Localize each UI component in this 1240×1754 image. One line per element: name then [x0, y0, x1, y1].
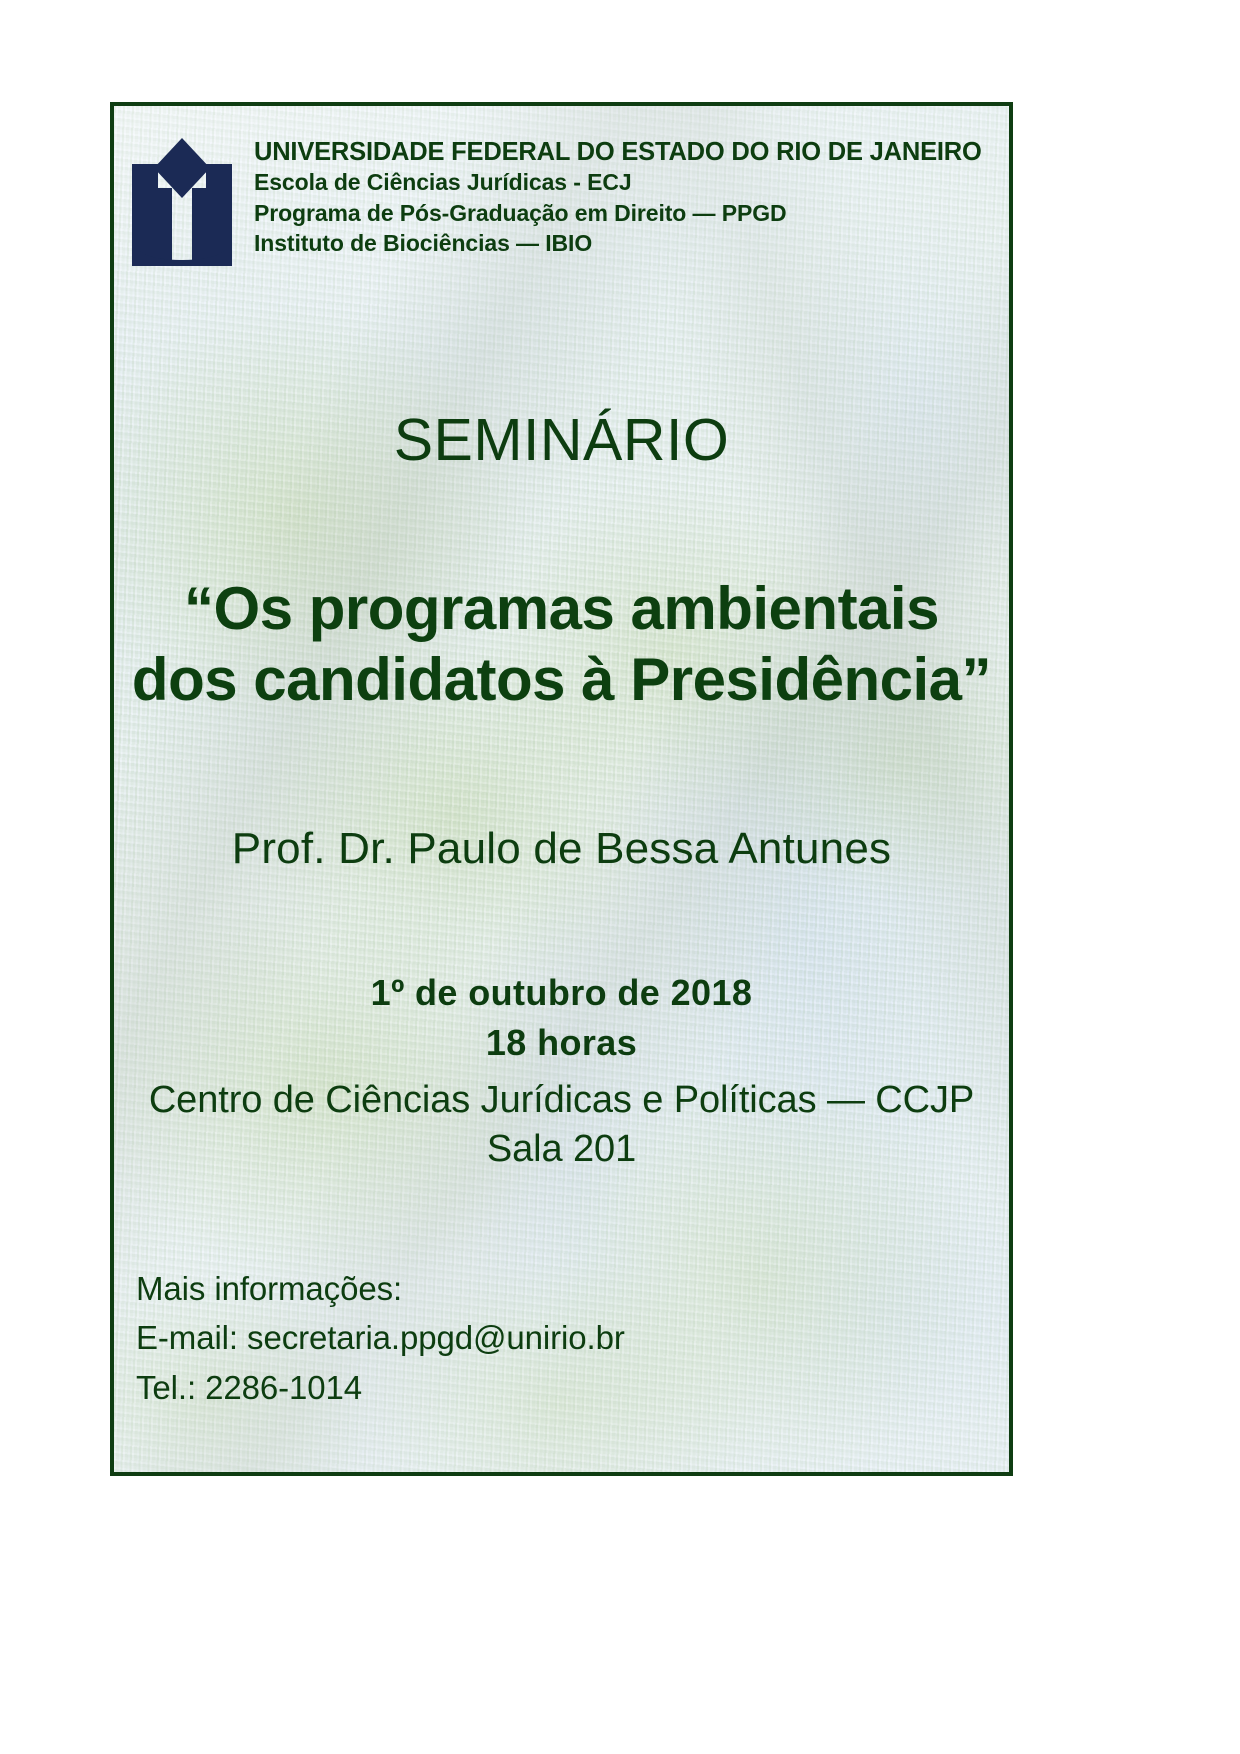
event-venue: Centro de Ciências Jurídicas e Políticas…	[114, 1076, 1009, 1125]
poster-frame: UNIVERSIDADE FEDERAL DO ESTADO DO RIO DE…	[110, 102, 1013, 1476]
contact-block: Mais informações: E-mail: secretaria.ppg…	[136, 1264, 625, 1413]
event-room: Sala 201	[114, 1125, 1009, 1174]
school-name-ecj: Escola de Ciências Jurídicas - ECJ	[254, 167, 982, 198]
poster-title: “Os programas ambientais dos candidatos …	[114, 574, 1009, 716]
institute-name-ibio: Instituto de Biociências — IBIO	[254, 228, 982, 259]
poster-title-line-1: “Os programas ambientais	[114, 574, 1009, 645]
poster-header: UNIVERSIDADE FEDERAL DO ESTADO DO RIO DE…	[114, 124, 1009, 266]
event-details: 1º de outubro de 2018 18 horas Centro de…	[114, 968, 1009, 1174]
contact-phone: Tel.: 2286-1014	[136, 1363, 625, 1413]
poster-title-line-2: dos candidatos à Presidência”	[114, 645, 1009, 716]
poster-page: UNIVERSIDADE FEDERAL DO ESTADO DO RIO DE…	[0, 0, 1240, 1754]
poster-content: UNIVERSIDADE FEDERAL DO ESTADO DO RIO DE…	[114, 106, 1009, 1472]
unirio-logo-icon	[128, 124, 236, 266]
speaker-name: Prof. Dr. Paulo de Bessa Antunes	[114, 824, 1009, 874]
program-name-ppgd: Programa de Pós-Graduação em Direito — P…	[254, 198, 982, 229]
event-time: 18 horas	[114, 1018, 1009, 1068]
event-date: 1º de outubro de 2018	[114, 968, 1009, 1018]
contact-heading: Mais informações:	[136, 1264, 625, 1314]
university-name: UNIVERSIDADE FEDERAL DO ESTADO DO RIO DE…	[254, 137, 982, 167]
organization-lines: UNIVERSIDADE FEDERAL DO ESTADO DO RIO DE…	[254, 124, 982, 259]
contact-email: E-mail: secretaria.ppgd@unirio.br	[136, 1313, 625, 1363]
event-type-label: SEMINÁRIO	[114, 406, 1009, 474]
